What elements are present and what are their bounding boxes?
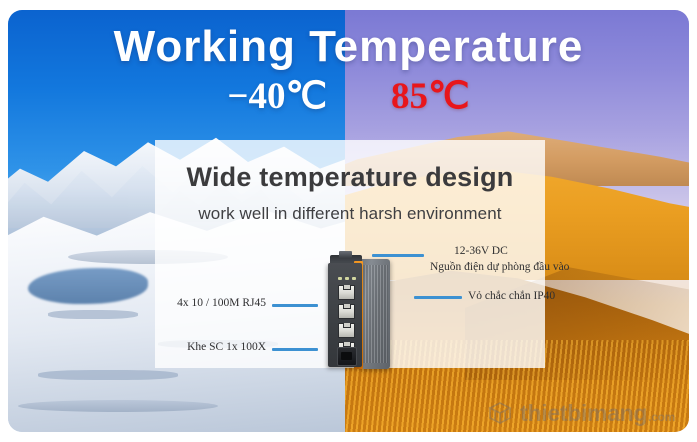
led-indicator — [352, 277, 356, 280]
device-side-body — [360, 259, 390, 369]
callout-text: Khe SC 1x 100X — [187, 340, 266, 356]
crevasse — [38, 370, 178, 380]
callout-line — [272, 304, 318, 307]
watermark: thietbimang .com — [487, 400, 675, 426]
led-indicator — [338, 277, 342, 280]
device-front-face — [328, 263, 362, 367]
callout-line — [414, 296, 462, 299]
banner: Working Temperature −40℃ 85℃ Wide temper… — [8, 10, 689, 432]
thietbimang-logo-icon — [487, 400, 513, 426]
led-indicator — [345, 277, 349, 280]
watermark-name: thietbimang — [520, 402, 647, 425]
status-leds — [338, 277, 356, 280]
industrial-switch-device — [324, 255, 392, 373]
panel-heading: Wide temperature design — [155, 162, 545, 193]
rj45-port — [338, 323, 355, 338]
rj45-port — [338, 304, 355, 319]
watermark-text: thietbimang .com — [520, 402, 675, 425]
callout-line — [272, 348, 318, 351]
rj45-port — [338, 285, 355, 300]
callout-text: Vỏ chắc chắn IP40 — [468, 289, 555, 305]
power-terminal-block — [339, 251, 352, 258]
page-root: Working Temperature −40℃ 85℃ Wide temper… — [0, 0, 697, 442]
watermark-suffix: .com — [648, 411, 675, 423]
callout-line-1: 12-36V DC — [430, 244, 569, 260]
callout-line-2: Nguồn điện dự phòng đầu vào — [430, 261, 569, 273]
panel-subheading: work well in different harsh environment — [155, 204, 545, 224]
callout-line — [372, 254, 424, 257]
crevasse — [48, 310, 138, 319]
snow-ridge — [18, 400, 218, 412]
callout-text: 4x 10 / 100M RJ45 — [177, 296, 266, 312]
callout-text: 12-36V DC Nguồn điện dự phòng đầu vào — [430, 244, 569, 275]
sc-fiber-slot — [337, 347, 357, 366]
